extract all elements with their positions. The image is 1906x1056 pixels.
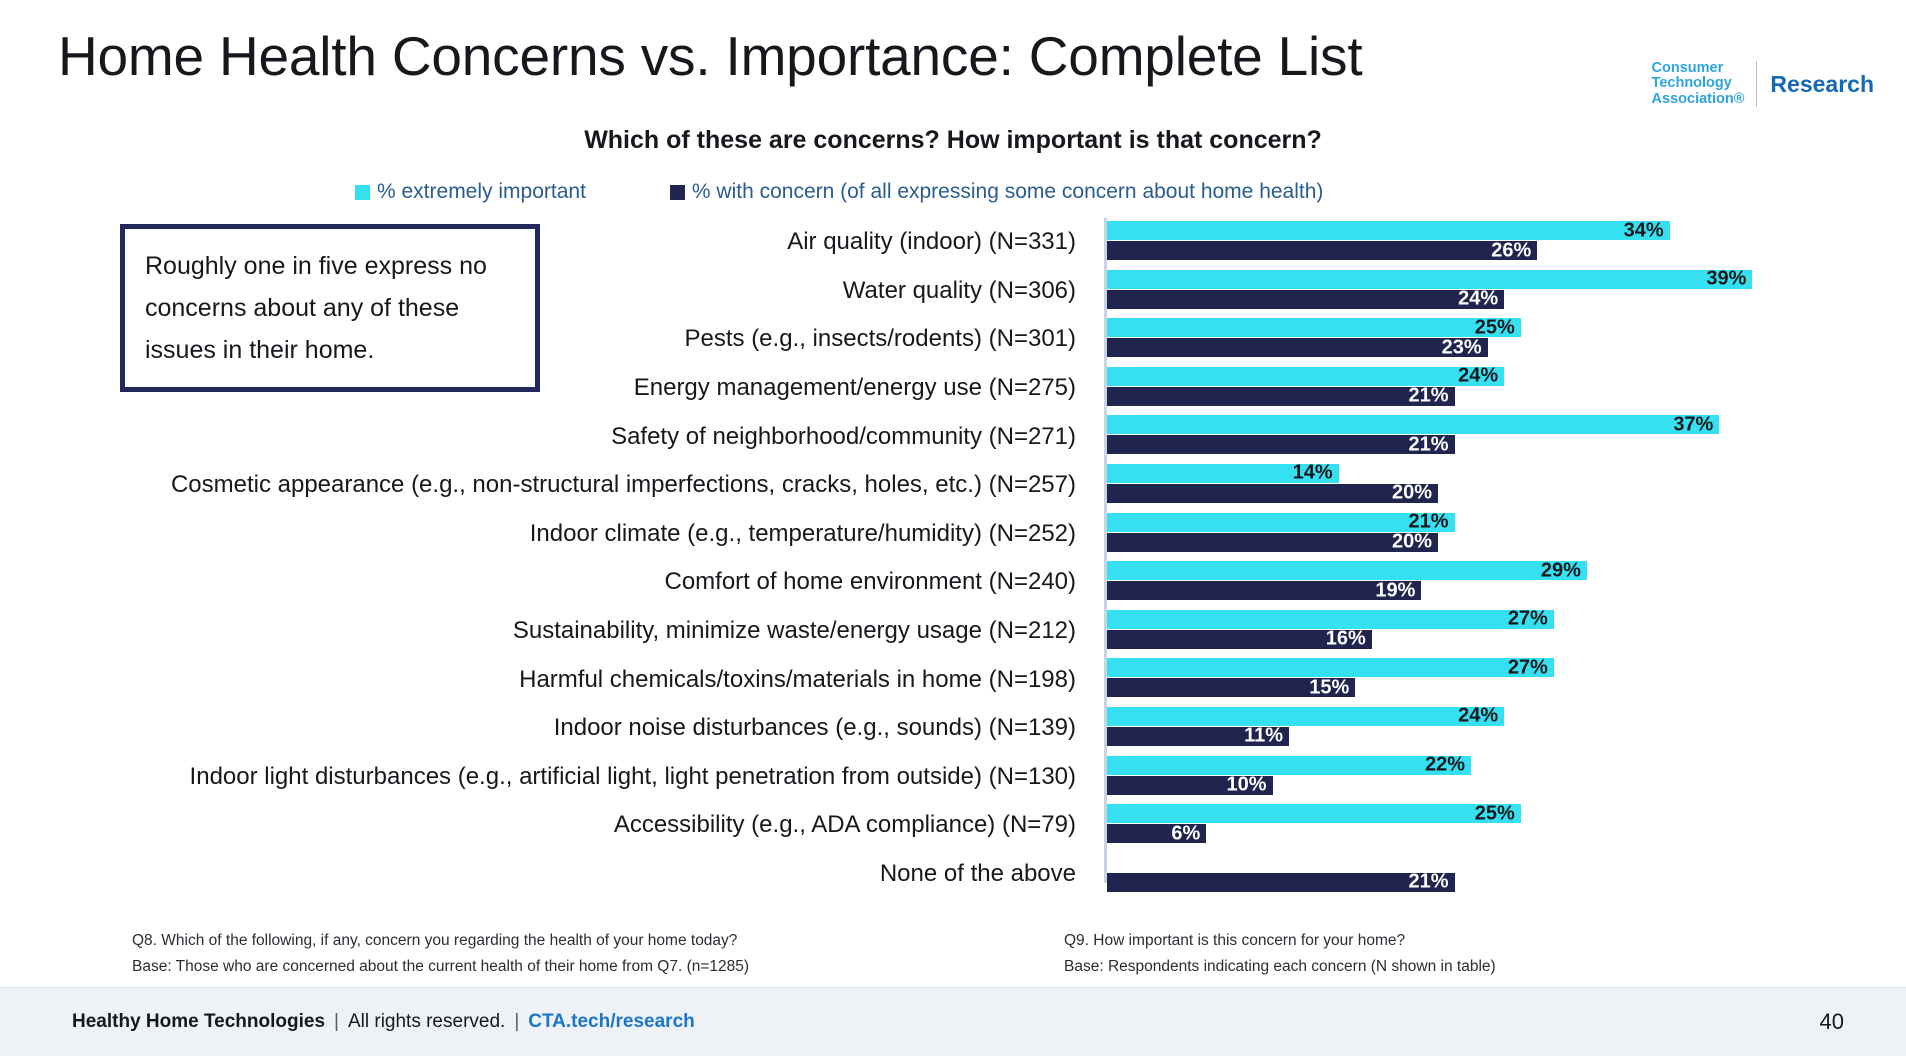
bar-value-label: 27% xyxy=(1508,656,1548,679)
bar-value-label: 27% xyxy=(1508,608,1548,631)
bar-value-label: 19% xyxy=(1375,579,1415,602)
bar-with-concern: 21% xyxy=(1107,873,1455,892)
bar-extremely-important: 24% xyxy=(1107,707,1504,726)
bar-extremely-important: 22% xyxy=(1107,756,1471,775)
bar-value-label: 26% xyxy=(1491,239,1531,262)
footer-rights-text: All rights reserved. xyxy=(348,1011,505,1033)
chart-row-bars: 25%6% xyxy=(1107,801,1897,850)
chart-row-bars: 21% xyxy=(1107,850,1897,899)
bar-value-label: 10% xyxy=(1226,774,1266,797)
bar-value-label: 20% xyxy=(1392,482,1432,505)
footer-page-number: 40 xyxy=(1820,1009,1844,1035)
bar-value-label: 34% xyxy=(1624,219,1664,242)
bar-extremely-important: 27% xyxy=(1107,610,1554,629)
logo-line-association: Association® xyxy=(1652,92,1745,108)
bar-extremely-important: 29% xyxy=(1107,561,1587,580)
chart-category-label: Harmful chemicals/toxins/materials in ho… xyxy=(0,666,1090,694)
bar-value-label: 11% xyxy=(1244,725,1283,748)
footer-deck-name: Healthy Home Technologies xyxy=(72,1011,325,1033)
bar-with-concern: 10% xyxy=(1107,776,1273,795)
bar-with-concern: 21% xyxy=(1107,387,1455,406)
legend-label-with-concern: % with concern (of all expressing some c… xyxy=(692,180,1324,204)
bar-extremely-important: 34% xyxy=(1107,221,1670,240)
chart-category-label: Accessibility (e.g., ADA compliance) (N=… xyxy=(0,811,1090,839)
bar-with-concern: 11% xyxy=(1107,727,1289,746)
source-note-left: Q8. Which of the following, if any, conc… xyxy=(132,928,749,980)
chart-category-label: Water quality (N=306) xyxy=(0,277,1090,305)
bar-value-label: 39% xyxy=(1706,268,1746,291)
chart-row: None of the above21% xyxy=(0,850,1906,899)
bar-value-label: 20% xyxy=(1392,531,1432,554)
bar-extremely-important: 37% xyxy=(1107,415,1719,434)
chart-rows: Air quality (indoor) (N=331)34%26%Water … xyxy=(0,218,1906,898)
bar-with-concern: 24% xyxy=(1107,290,1504,309)
bar-value-label: 24% xyxy=(1458,288,1498,311)
bar-extremely-important: 24% xyxy=(1107,367,1504,386)
chart-category-label: Indoor light disturbances (e.g., artific… xyxy=(0,763,1090,791)
chart-row-bars: 27%15% xyxy=(1107,655,1897,704)
source-note-right-line2: Base: Respondents indicating each concer… xyxy=(1064,954,1496,980)
chart-row: Cosmetic appearance (e.g., non-structura… xyxy=(0,461,1906,510)
bar-value-label: 37% xyxy=(1673,413,1713,436)
legend-item-with-concern: % with concern (of all expressing some c… xyxy=(670,180,1324,204)
bar-with-concern: 16% xyxy=(1107,630,1372,649)
bar-extremely-important: 27% xyxy=(1107,658,1554,677)
bar-with-concern: 20% xyxy=(1107,484,1438,503)
chart-row: Indoor noise disturbances (e.g., sounds)… xyxy=(0,704,1906,753)
legend-label-extremely-important: % extremely important xyxy=(377,180,586,204)
footer-separator-1: | xyxy=(334,1011,339,1033)
bar-with-concern: 19% xyxy=(1107,581,1421,600)
bar-value-label: 29% xyxy=(1541,559,1581,582)
bar-value-label: 22% xyxy=(1425,754,1465,777)
chart-row-bars: 21%20% xyxy=(1107,510,1897,559)
chart-row-bars: 24%21% xyxy=(1107,364,1897,413)
legend-swatch-icon-navy xyxy=(670,185,685,200)
chart-category-label: None of the above xyxy=(0,860,1090,888)
bar-with-concern: 26% xyxy=(1107,241,1537,260)
slide: Home Health Concerns vs. Importance: Com… xyxy=(0,0,1906,1056)
cta-research-logo: Consumer Technology Association® Researc… xyxy=(1652,58,1874,110)
chart-row-bars: 22%10% xyxy=(1107,753,1897,802)
chart-row: Harmful chemicals/toxins/materials in ho… xyxy=(0,655,1906,704)
chart-question-subtitle: Which of these are concerns? How importa… xyxy=(0,126,1906,155)
bar-value-label: 14% xyxy=(1293,462,1333,485)
source-note-right-line1: Q9. How important is this concern for yo… xyxy=(1064,928,1496,954)
chart-legend: % extremely important % with concern (of… xyxy=(355,180,1323,204)
bar-extremely-important: 25% xyxy=(1107,318,1521,337)
bar-extremely-important: 39% xyxy=(1107,270,1752,289)
bar-with-concern: 20% xyxy=(1107,533,1438,552)
bar-with-concern: 21% xyxy=(1107,435,1455,454)
chart-category-label: Pests (e.g., insects/rodents) (N=301) xyxy=(0,325,1090,353)
bar-with-concern: 15% xyxy=(1107,678,1355,697)
chart-category-label: Safety of neighborhood/community (N=271) xyxy=(0,423,1090,451)
bar-with-concern: 6% xyxy=(1107,824,1206,843)
legend-swatch-icon-cyan xyxy=(355,185,370,200)
bar-value-label: 6% xyxy=(1171,822,1200,845)
source-note-left-line1: Q8. Which of the following, if any, conc… xyxy=(132,928,749,954)
chart-category-label: Cosmetic appearance (e.g., non-structura… xyxy=(0,471,1090,499)
slide-footer: Healthy Home Technologies | All rights r… xyxy=(0,987,1906,1056)
bar-chart: Air quality (indoor) (N=331)34%26%Water … xyxy=(0,218,1906,898)
chart-category-label: Indoor climate (e.g., temperature/humidi… xyxy=(0,520,1090,548)
source-note-left-line2: Base: Those who are concerned about the … xyxy=(132,954,749,980)
footer-left-group: Healthy Home Technologies | All rights r… xyxy=(72,1011,695,1033)
chart-category-label: Indoor noise disturbances (e.g., sounds)… xyxy=(0,714,1090,742)
chart-row: Sustainability, minimize waste/energy us… xyxy=(0,607,1906,656)
cta-logo-text: Consumer Technology Association® xyxy=(1652,61,1757,108)
chart-category-label: Energy management/energy use (N=275) xyxy=(0,374,1090,402)
bar-value-label: 21% xyxy=(1409,385,1449,408)
bar-value-label: 16% xyxy=(1326,628,1366,651)
chart-row-bars: 37%21% xyxy=(1107,412,1897,461)
bar-value-label: 24% xyxy=(1458,365,1498,388)
logo-research-text: Research xyxy=(1757,71,1874,98)
bar-extremely-important: 21% xyxy=(1107,513,1455,532)
chart-row-bars: 25%23% xyxy=(1107,315,1897,364)
bar-extremely-important: 14% xyxy=(1107,464,1339,483)
chart-row: Indoor climate (e.g., temperature/humidi… xyxy=(0,510,1906,559)
chart-row-bars: 14%20% xyxy=(1107,461,1897,510)
chart-row: Pests (e.g., insects/rodents) (N=301)25%… xyxy=(0,315,1906,364)
logo-line-consumer: Consumer xyxy=(1652,61,1745,77)
footer-separator-2: | xyxy=(514,1011,519,1033)
chart-row-bars: 34%26% xyxy=(1107,218,1897,267)
chart-row: Water quality (N=306)39%24% xyxy=(0,267,1906,316)
chart-row: Indoor light disturbances (e.g., artific… xyxy=(0,753,1906,802)
footer-research-link[interactable]: CTA.tech/research xyxy=(528,1011,695,1033)
chart-row-bars: 24%11% xyxy=(1107,704,1897,753)
bar-value-label: 15% xyxy=(1309,676,1349,699)
legend-item-extremely-important: % extremely important xyxy=(355,180,586,204)
chart-category-label: Comfort of home environment (N=240) xyxy=(0,568,1090,596)
bar-extremely-important: 25% xyxy=(1107,804,1521,823)
chart-row: Accessibility (e.g., ADA compliance) (N=… xyxy=(0,801,1906,850)
chart-category-label: Air quality (indoor) (N=331) xyxy=(0,228,1090,256)
chart-row: Energy management/energy use (N=275)24%2… xyxy=(0,364,1906,413)
chart-row-bars: 39%24% xyxy=(1107,267,1897,316)
bar-value-label: 21% xyxy=(1409,433,1449,456)
chart-row: Comfort of home environment (N=240)29%19… xyxy=(0,558,1906,607)
bar-value-label: 25% xyxy=(1475,802,1515,825)
bar-with-concern: 23% xyxy=(1107,338,1488,357)
bar-value-label: 21% xyxy=(1409,871,1449,894)
chart-row-bars: 27%16% xyxy=(1107,607,1897,656)
chart-row: Air quality (indoor) (N=331)34%26% xyxy=(0,218,1906,267)
bar-value-label: 23% xyxy=(1442,336,1482,359)
chart-row-bars: 29%19% xyxy=(1107,558,1897,607)
logo-line-technology: Technology xyxy=(1652,76,1745,92)
source-note-right: Q9. How important is this concern for yo… xyxy=(1064,928,1496,980)
chart-category-label: Sustainability, minimize waste/energy us… xyxy=(0,617,1090,645)
chart-row: Safety of neighborhood/community (N=271)… xyxy=(0,412,1906,461)
page-title: Home Health Concerns vs. Importance: Com… xyxy=(58,24,1362,88)
source-notes: Q8. Which of the following, if any, conc… xyxy=(0,928,1906,988)
bar-value-label: 24% xyxy=(1458,705,1498,728)
